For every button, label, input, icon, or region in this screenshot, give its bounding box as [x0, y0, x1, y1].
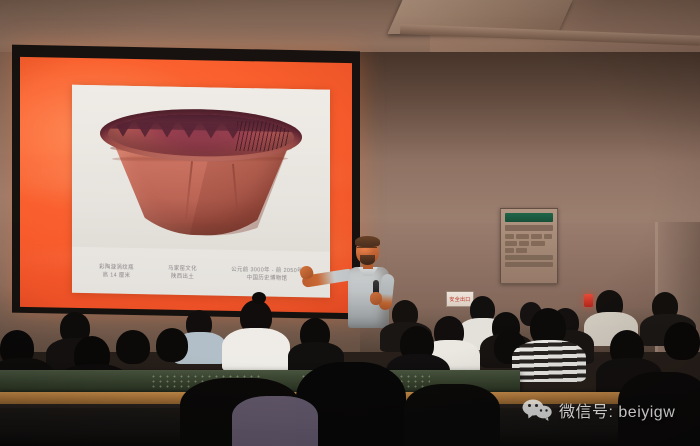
caption-column: 马家窑文化 陕西出土 [168, 265, 197, 282]
caption-line-1: 马家窑文化 [168, 266, 197, 273]
foreground-audience-shoulders [404, 384, 500, 446]
caption-column: 彩陶漩涡纹瓶 高 14 厘米 [99, 263, 134, 280]
audience-head [116, 330, 150, 364]
audience-head [664, 322, 700, 360]
audience-shoulders-striped [512, 340, 586, 382]
slide-content-panel: 彩陶漩涡纹瓶 高 14 厘米 马家窑文化 陕西出土 公元前 3000年 - 前 … [72, 85, 330, 298]
wechat-icon [522, 399, 552, 421]
glasses-icon [357, 247, 377, 252]
notice-cell [531, 234, 542, 239]
notice-footer-bar [505, 262, 553, 267]
caption-line-2: 陕西出土 [168, 273, 197, 282]
notice-cell [544, 234, 552, 239]
artifact-photo [72, 85, 330, 252]
foreground-audience-lavender [232, 396, 318, 446]
wall-notice-board [500, 208, 558, 284]
notice-cell [519, 241, 529, 246]
caption-line-1: 公元前 3000年 - 前 2050年 [231, 267, 303, 274]
caption-line-2: 中国历史博物馆 [231, 274, 303, 283]
red-indicator-lamp [584, 294, 593, 307]
notice-cell [516, 248, 527, 253]
notice-cell [505, 241, 517, 246]
presenter-beard [360, 255, 375, 265]
presenter-hair [355, 236, 380, 247]
audience-head [156, 328, 188, 362]
painted-pottery-bowl [92, 99, 310, 243]
audience-head-bun [252, 292, 266, 304]
notice-cell [505, 248, 514, 253]
notice-cell [505, 234, 514, 239]
presenter-mic-hand [370, 292, 382, 305]
caption-line-2: 高 14 厘米 [99, 271, 134, 280]
caption-column: 公元前 3000年 - 前 2050年 中国历史博物馆 [231, 266, 303, 283]
notice-board-grid [505, 234, 553, 253]
notice-footer-bar [505, 255, 553, 260]
wall-shadow [360, 52, 700, 162]
caption-line-1: 彩陶漩涡纹瓶 [99, 264, 134, 271]
audience-shoulders [222, 328, 290, 372]
notice-board-subtitle [505, 225, 553, 231]
notice-cell [531, 241, 545, 246]
notice-board-header [505, 213, 553, 222]
photo-scene: 彩陶漩涡纹瓶 高 14 厘米 马家窑文化 陕西出土 公元前 3000年 - 前 … [0, 0, 700, 446]
presenter-right-arm [378, 273, 395, 310]
exit-sign-label: 安全出口 [449, 296, 470, 303]
watermark-label: 微信号: beiyigw [559, 398, 675, 422]
watermark: 微信号: beiyigw [522, 398, 675, 422]
notice-cell [516, 234, 529, 239]
slide-caption: 彩陶漩涡纹瓶 高 14 厘米 马家窑文化 陕西出土 公元前 3000年 - 前 … [72, 249, 330, 298]
